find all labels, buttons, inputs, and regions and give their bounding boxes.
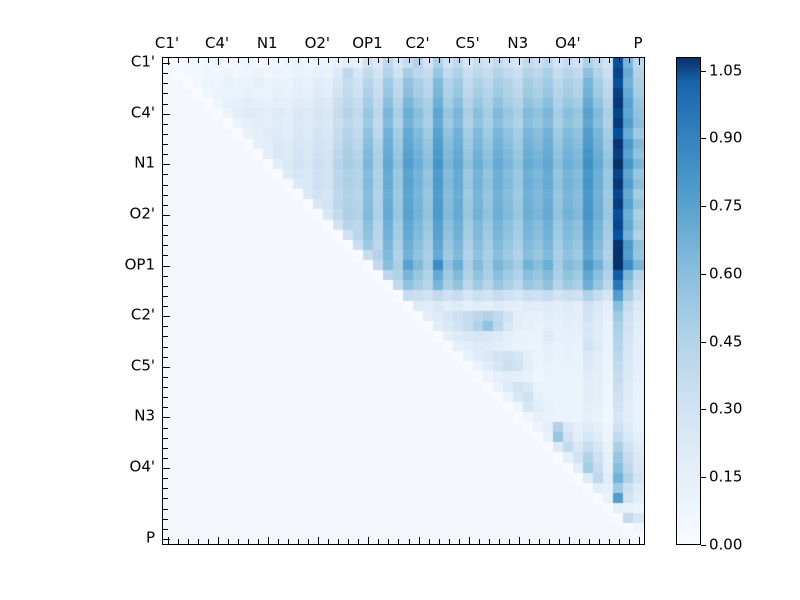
x-tick-mark-bottom — [529, 539, 530, 544]
x-tick-mark-bottom — [198, 539, 199, 544]
x-tick-label-P: P — [633, 36, 642, 51]
x-tick-label-C2p: C2' — [405, 36, 429, 51]
x-tick-mark — [388, 58, 389, 63]
y-tick-mark — [163, 448, 168, 449]
y-tick-mark — [163, 316, 170, 317]
x-tick-mark-bottom — [278, 539, 279, 544]
y-tick-mark — [163, 397, 168, 398]
colorbar-tick-label: 0.75 — [709, 199, 742, 214]
y-tick-mark — [163, 144, 168, 145]
x-tick-label-C4p: C4' — [205, 36, 229, 51]
x-tick-mark — [398, 58, 399, 63]
y-tick-mark — [163, 185, 168, 186]
y-tick-label-O2p: O2' — [0, 206, 155, 221]
y-tick-mark — [163, 458, 168, 459]
x-tick-mark — [318, 58, 319, 65]
x-tick-mark — [248, 58, 249, 63]
colorbar: 0.000.150.300.450.600.750.901.05 — [676, 57, 701, 545]
x-tick-mark — [188, 58, 189, 63]
y-tick-mark — [163, 438, 168, 439]
x-tick-mark-bottom — [469, 537, 470, 544]
colorbar-tick-mark — [701, 477, 706, 478]
y-tick-mark — [163, 245, 168, 246]
heatmap-matrix — [163, 58, 644, 544]
x-tick-mark — [569, 58, 570, 65]
y-tick-mark — [163, 93, 168, 94]
x-tick-mark-bottom — [378, 539, 379, 544]
x-tick-mark-bottom — [268, 537, 269, 544]
x-tick-mark — [479, 58, 480, 63]
x-tick-mark-bottom — [429, 539, 430, 544]
colorbar-tick-mark — [701, 138, 706, 139]
x-tick-mark — [419, 58, 420, 65]
x-tick-mark — [348, 58, 349, 63]
colorbar-tick-label: 0.60 — [709, 266, 742, 281]
x-tick-mark-bottom — [228, 539, 229, 544]
x-tick-mark-bottom — [499, 539, 500, 544]
x-tick-mark-bottom — [589, 539, 590, 544]
y-tick-mark — [163, 124, 168, 125]
y-tick-mark — [163, 539, 170, 540]
x-tick-label-C5p: C5' — [456, 36, 480, 51]
x-tick-mark-bottom — [549, 539, 550, 544]
x-tick-mark — [368, 58, 369, 65]
x-tick-mark-bottom — [358, 539, 359, 544]
y-tick-label-P: P — [0, 530, 155, 545]
x-tick-mark — [409, 58, 410, 63]
x-tick-mark-bottom — [579, 539, 580, 544]
y-tick-mark — [163, 428, 168, 429]
colorbar-tick-label: 0.15 — [709, 470, 742, 485]
x-tick-mark — [469, 58, 470, 65]
colorbar-gradient — [676, 57, 701, 545]
y-tick-mark — [163, 478, 168, 479]
x-tick-mark-bottom — [409, 539, 410, 544]
y-tick-mark — [163, 174, 168, 175]
y-tick-label-C2p: C2' — [0, 308, 155, 323]
x-tick-mark-bottom — [238, 539, 239, 544]
y-tick-mark — [163, 73, 168, 74]
x-tick-mark — [378, 58, 379, 63]
x-tick-mark — [519, 58, 520, 65]
y-tick-mark — [163, 83, 168, 84]
y-tick-mark — [163, 235, 168, 236]
x-tick-mark-bottom — [419, 537, 420, 544]
x-tick-label-O2p: O2' — [305, 36, 330, 51]
x-tick-mark — [499, 58, 500, 63]
colorbar-tick-label: 1.05 — [709, 63, 742, 78]
x-tick-mark-bottom — [509, 539, 510, 544]
x-tick-mark-bottom — [188, 539, 189, 544]
x-tick-label-OP1: OP1 — [352, 36, 382, 51]
x-tick-mark — [639, 58, 640, 65]
y-tick-mark — [163, 488, 168, 489]
x-tick-mark — [439, 58, 440, 63]
x-tick-mark — [619, 58, 620, 63]
x-tick-mark — [238, 58, 239, 63]
colorbar-tick-mark — [701, 409, 706, 410]
y-tick-mark — [163, 225, 168, 226]
x-tick-mark-bottom — [218, 537, 219, 544]
x-tick-mark-bottom — [248, 539, 249, 544]
heatmap-figure: C1'C4'N1O2'OP1C2'C5'N3O4'P C1'C4'N1O2'OP… — [0, 0, 800, 600]
x-tick-mark-bottom — [489, 539, 490, 544]
x-tick-mark — [338, 58, 339, 63]
y-tick-label-C4p: C4' — [0, 105, 155, 120]
x-tick-label-O4p: O4' — [555, 36, 580, 51]
x-tick-mark — [599, 58, 600, 63]
x-tick-mark — [579, 58, 580, 63]
x-tick-mark — [539, 58, 540, 63]
y-tick-mark — [163, 509, 168, 510]
y-tick-mark — [163, 347, 168, 348]
x-tick-mark-bottom — [328, 539, 329, 544]
x-tick-mark — [358, 58, 359, 63]
x-tick-mark — [278, 58, 279, 63]
x-tick-mark-bottom — [258, 539, 259, 544]
x-tick-mark — [268, 58, 269, 65]
x-tick-mark — [208, 58, 209, 63]
x-tick-mark-bottom — [178, 539, 179, 544]
y-tick-mark — [163, 529, 168, 530]
y-tick-label-C1p: C1' — [0, 55, 155, 70]
colorbar-tick-label: 0.30 — [709, 402, 742, 417]
x-tick-mark-bottom — [368, 537, 369, 544]
x-tick-mark — [298, 58, 299, 63]
x-tick-mark — [609, 58, 610, 63]
y-tick-mark — [163, 387, 168, 388]
y-tick-mark — [163, 336, 168, 337]
x-tick-mark-bottom — [519, 537, 520, 544]
y-tick-mark — [163, 134, 168, 135]
y-tick-mark — [163, 286, 168, 287]
y-tick-mark — [163, 154, 168, 155]
x-tick-mark — [288, 58, 289, 63]
x-tick-mark-bottom — [639, 537, 640, 544]
x-tick-label-N1: N1 — [257, 36, 278, 51]
y-tick-mark — [163, 377, 168, 378]
y-tick-label-N1: N1 — [0, 156, 155, 171]
y-tick-mark — [163, 519, 168, 520]
x-tick-mark-bottom — [599, 539, 600, 544]
x-tick-mark — [228, 58, 229, 63]
x-tick-mark — [529, 58, 530, 63]
x-tick-mark — [549, 58, 550, 63]
y-tick-mark — [163, 468, 170, 469]
x-tick-mark — [509, 58, 510, 63]
y-tick-mark — [163, 367, 170, 368]
x-tick-mark-bottom — [298, 539, 299, 544]
y-tick-mark — [163, 104, 168, 105]
y-tick-mark — [163, 407, 168, 408]
x-tick-mark — [459, 58, 460, 63]
y-tick-mark — [163, 498, 168, 499]
y-tick-mark — [163, 306, 168, 307]
x-tick-mark — [218, 58, 219, 65]
x-tick-mark-bottom — [619, 539, 620, 544]
y-tick-mark — [163, 326, 168, 327]
x-tick-mark-bottom — [539, 539, 540, 544]
y-tick-mark — [163, 63, 170, 64]
x-tick-mark — [429, 58, 430, 63]
y-tick-mark — [163, 215, 170, 216]
x-tick-mark-bottom — [308, 539, 309, 544]
x-tick-mark-bottom — [318, 537, 319, 544]
y-tick-label-OP1: OP1 — [0, 257, 155, 272]
colorbar-tick-mark — [701, 342, 706, 343]
colorbar-tick-mark — [701, 71, 706, 72]
y-tick-mark — [163, 114, 170, 115]
x-tick-mark — [489, 58, 490, 63]
x-tick-mark — [449, 58, 450, 63]
x-tick-mark — [559, 58, 560, 63]
x-tick-mark — [198, 58, 199, 63]
x-tick-mark-bottom — [388, 539, 389, 544]
x-tick-mark — [258, 58, 259, 63]
x-tick-mark-bottom — [439, 539, 440, 544]
colorbar-tick-mark — [701, 274, 706, 275]
heatmap-plot-area — [162, 57, 645, 545]
x-tick-mark-bottom — [459, 539, 460, 544]
y-tick-mark — [163, 357, 168, 358]
x-tick-mark-bottom — [609, 539, 610, 544]
y-tick-mark — [163, 164, 170, 165]
y-tick-mark — [163, 276, 168, 277]
x-tick-label-C1p: C1' — [155, 36, 179, 51]
y-tick-mark — [163, 195, 168, 196]
y-tick-mark — [163, 266, 170, 267]
y-tick-mark — [163, 417, 170, 418]
colorbar-tick-mark — [701, 206, 706, 207]
x-tick-mark — [308, 58, 309, 63]
x-tick-label-N3: N3 — [507, 36, 528, 51]
x-tick-mark-bottom — [559, 539, 560, 544]
colorbar-tick-label: 0.00 — [709, 538, 742, 553]
x-tick-mark — [178, 58, 179, 63]
x-tick-mark-bottom — [338, 539, 339, 544]
colorbar-tick-label: 0.90 — [709, 131, 742, 146]
y-tick-mark — [163, 255, 168, 256]
x-tick-mark — [589, 58, 590, 63]
y-tick-label-C5p: C5' — [0, 358, 155, 373]
x-tick-mark-bottom — [629, 539, 630, 544]
y-tick-label-N3: N3 — [0, 409, 155, 424]
colorbar-tick-mark — [701, 545, 706, 546]
x-tick-mark-bottom — [398, 539, 399, 544]
x-tick-mark-bottom — [208, 539, 209, 544]
x-tick-mark-bottom — [569, 537, 570, 544]
x-tick-mark-bottom — [479, 539, 480, 544]
x-tick-mark-bottom — [288, 539, 289, 544]
y-tick-label-O4p: O4' — [0, 460, 155, 475]
y-tick-mark — [163, 205, 168, 206]
x-tick-mark — [328, 58, 329, 63]
x-tick-mark-bottom — [348, 539, 349, 544]
x-tick-mark — [629, 58, 630, 63]
colorbar-tick-label: 0.45 — [709, 334, 742, 349]
x-tick-mark-bottom — [449, 539, 450, 544]
y-tick-mark — [163, 296, 168, 297]
